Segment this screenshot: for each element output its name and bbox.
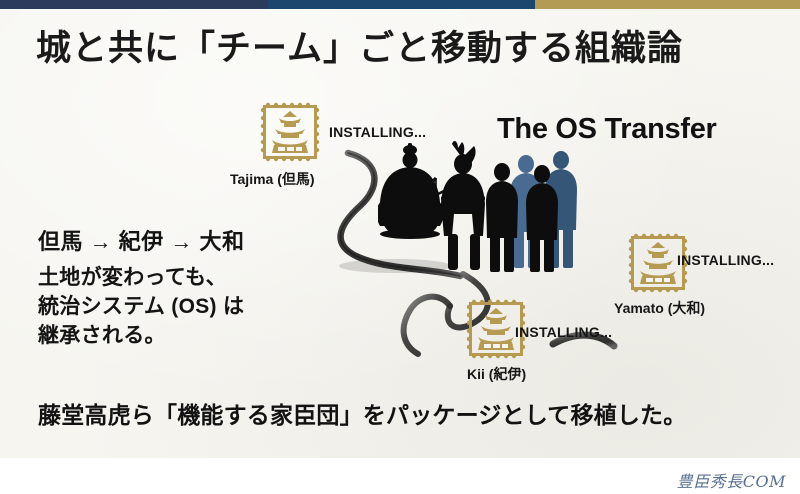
accent-segment-navy — [268, 0, 535, 9]
node-tajima[interactable]: INSTALLING... Tajima (但馬) — [259, 101, 321, 163]
samurai-archer-silhouette — [429, 141, 486, 270]
slide-canvas: 城と共に「チーム」ごと移動する組織論 — [0, 0, 800, 494]
node-label-tajima: Tajima (但馬) — [230, 169, 315, 189]
english-heading: The OS Transfer — [497, 113, 717, 146]
status-installing: INSTALLING... — [677, 252, 774, 268]
body-line-1: 土地が変わっても、 — [38, 264, 244, 293]
businessman-silhouette-2 — [510, 155, 542, 268]
accent-segment-navy-dark — [0, 0, 268, 9]
businessman-silhouette-1 — [486, 163, 518, 272]
businessman-silhouette-3 — [526, 165, 558, 272]
samurai-commander-silhouette — [378, 143, 443, 239]
status-installing: INSTALLING... — [515, 324, 612, 340]
kicker-statement: 藤堂高虎ら「機能する家臣団」をパッケージとして移植した。 — [38, 396, 686, 430]
node-kii[interactable]: INSTALLING... Kii (紀伊) — [465, 298, 527, 360]
site-watermark: 豊臣秀長COM — [677, 468, 786, 492]
top-accent-bar — [0, 0, 800, 9]
body-line-2: 統治システム (OS) は — [38, 293, 244, 322]
figure-group — [378, 140, 588, 280]
businessman-silhouette-4 — [545, 151, 577, 268]
node-label-yamato: Yamato (大和) — [614, 298, 705, 318]
castle-stamp-icon — [259, 101, 321, 163]
body-copy: 土地が変わっても、 統治システム (OS) は 継承される。 — [38, 264, 244, 351]
node-yamato[interactable]: INSTALLING... Yamato (大和) — [627, 232, 689, 294]
body-line-3: 継承される。 — [38, 322, 244, 351]
accent-segment-gold — [535, 0, 800, 9]
route-line: 但馬 → 紀伊 → 大和 — [38, 224, 244, 256]
node-label-kii: Kii (紀伊) — [467, 364, 526, 384]
status-installing: INSTALLING... — [329, 124, 426, 140]
slide-headline: 城と共に「チーム」ごと移動する組織論 — [36, 20, 683, 71]
